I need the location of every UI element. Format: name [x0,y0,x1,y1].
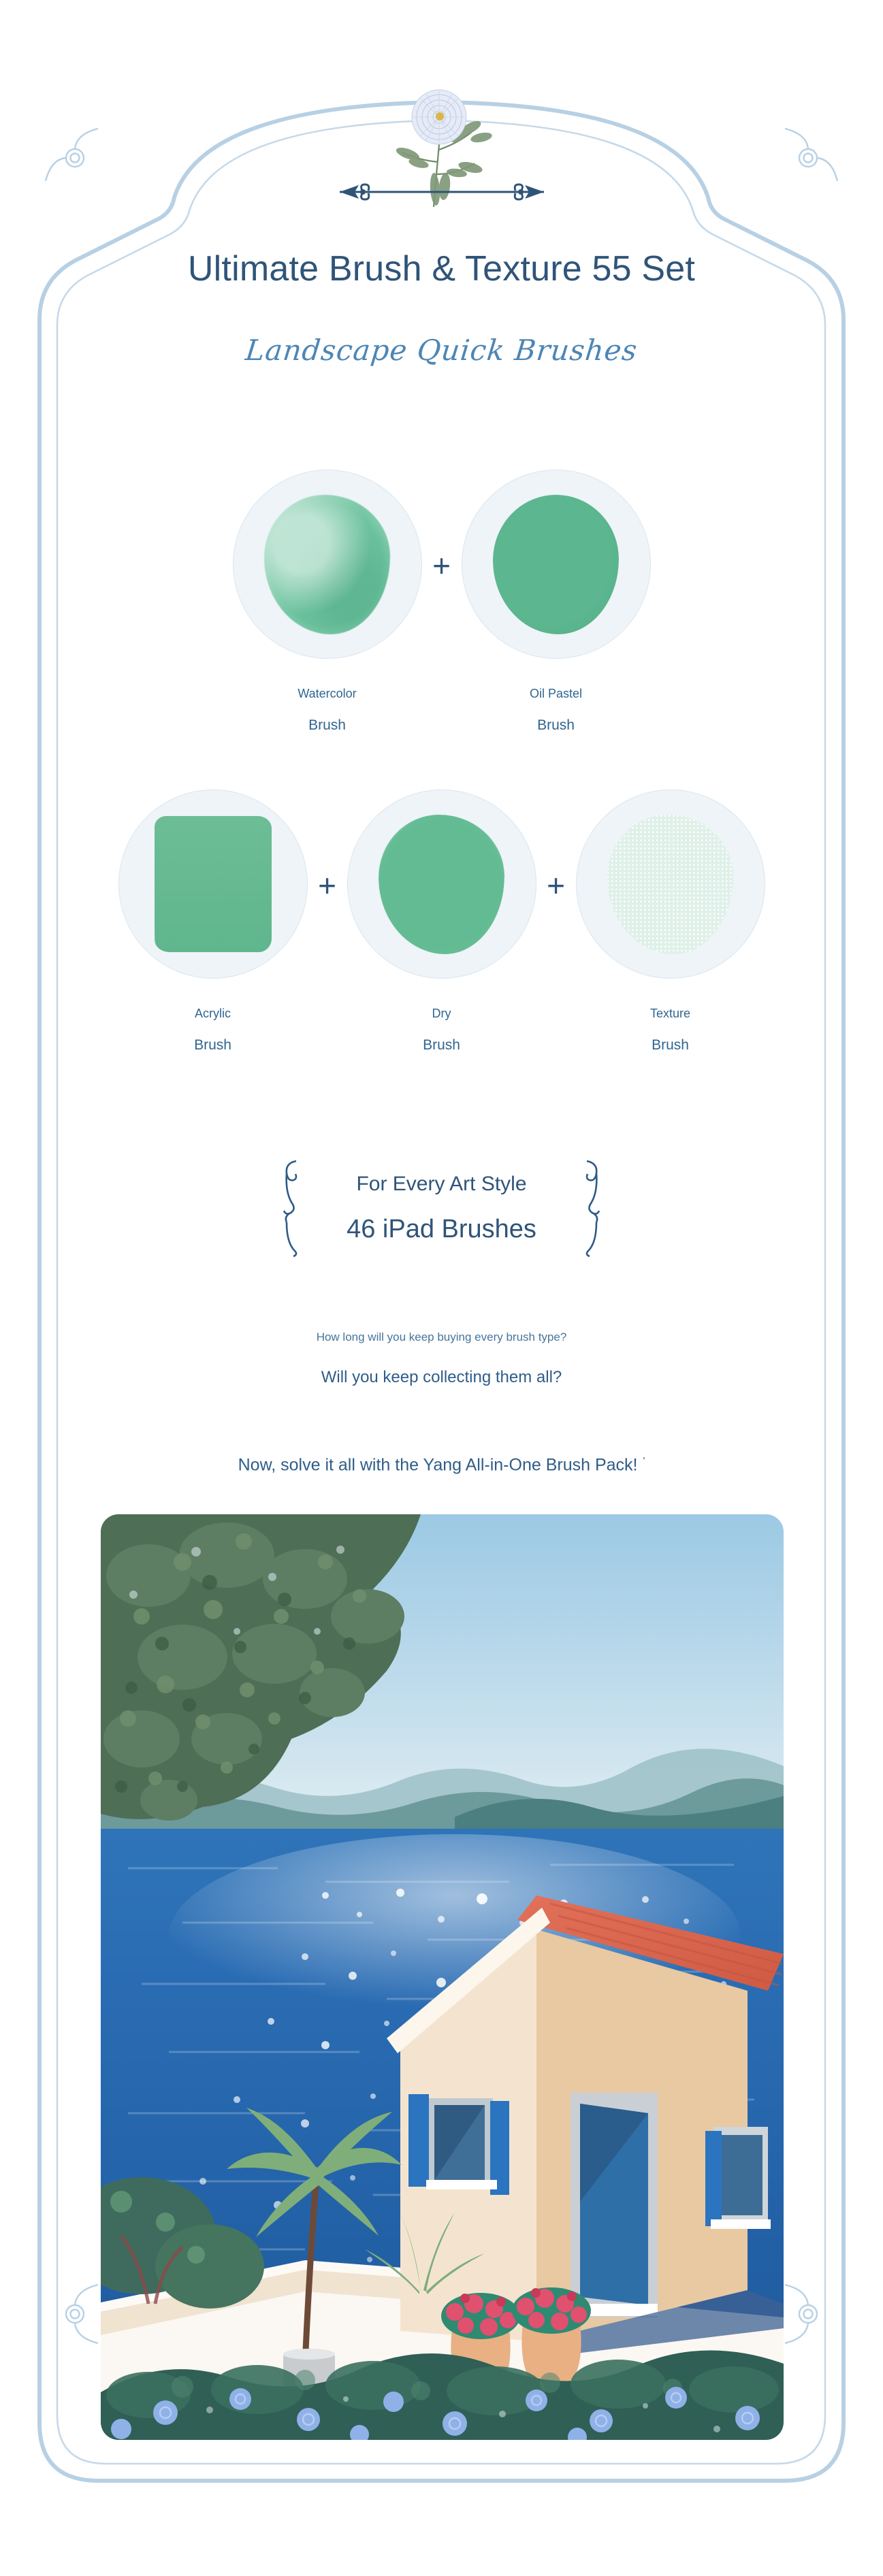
question-large: Will you keep collecting them all? [0,1368,883,1387]
brush-suffix: Brush [298,712,356,739]
brush-name: Texture [650,1002,690,1025]
brush-label: Texture Brush [650,1002,690,1059]
texture-swatch [576,789,765,979]
brush-item-acrylic[interactable]: Acrylic Brush [118,789,308,1059]
plus-separator: + [422,550,462,581]
brush-row-one: Watercolor Brush + Oil Pastel Brush [0,470,883,739]
chrysanthemum-flower [412,90,466,144]
brush-item-watercolor[interactable]: Watercolor Brush [233,470,422,739]
brush-label: Dry Brush [423,1002,460,1059]
dry-brush-swatch [347,789,536,979]
brush-name: Acrylic [194,1002,231,1025]
shutter-left [408,2094,429,2187]
brush-label: Oil Pastel Brush [530,682,582,739]
brush-label: Watercolor Brush [298,682,356,739]
brush-row-two: Acrylic Brush + Dry Brush + Texture Brus… [0,789,883,1059]
claim-line-two: 46 iPad Brushes [347,1215,536,1244]
brush-item-oil-pastel[interactable]: Oil Pastel Brush [462,470,651,739]
seaside-house-landscape-painting [101,1514,784,2440]
brush-name: Oil Pastel [530,682,582,705]
scroll-bracket-left-icon [276,1157,307,1259]
question-small: How long will you keep buying every brus… [0,1331,883,1344]
brush-name: Watercolor [298,682,356,705]
page-subtitle: Landscape Quick Brushes [0,333,883,367]
house-door [571,2093,658,2317]
brush-suffix: Brush [530,712,582,739]
brush-suffix: Brush [194,1032,231,1059]
claim-line-one: For Every Art Style [347,1173,536,1196]
plus-separator: + [536,870,576,901]
brush-item-dry[interactable]: Dry Brush [347,789,536,1059]
page-title: Ultimate Brush & Texture 55 Set [0,248,883,289]
urn-right-flowers [512,2287,591,2334]
double-arrow-divider-icon [306,178,578,206]
brush-item-texture[interactable]: Texture Brush [576,789,765,1059]
poster-page: Ultimate Brush & Texture 55 Set Landscap… [0,0,883,2576]
cta-mark: ' [643,1455,645,1467]
house-window [408,2094,509,2195]
claim-text: For Every Art Style 46 iPad Brushes [347,1173,536,1244]
plus-separator: + [308,870,347,901]
brush-suffix: Brush [650,1032,690,1059]
house-side-window [705,2127,771,2229]
scroll-bracket-right-icon [576,1157,607,1259]
acrylic-swatch [118,789,308,979]
cta-label: Now, solve it all with the Yang All-in-O… [238,1455,638,1474]
brush-label: Acrylic Brush [194,1002,231,1059]
cta-text: Now, solve it all with the Yang All-in-O… [0,1455,883,1475]
claim-block: For Every Art Style 46 iPad Brushes [0,1157,883,1262]
oil-pastel-swatch [462,470,651,659]
brush-name: Dry [423,1002,460,1025]
brush-suffix: Brush [423,1032,460,1059]
urn-left-flowers [441,2293,520,2339]
watercolor-swatch [233,470,422,659]
